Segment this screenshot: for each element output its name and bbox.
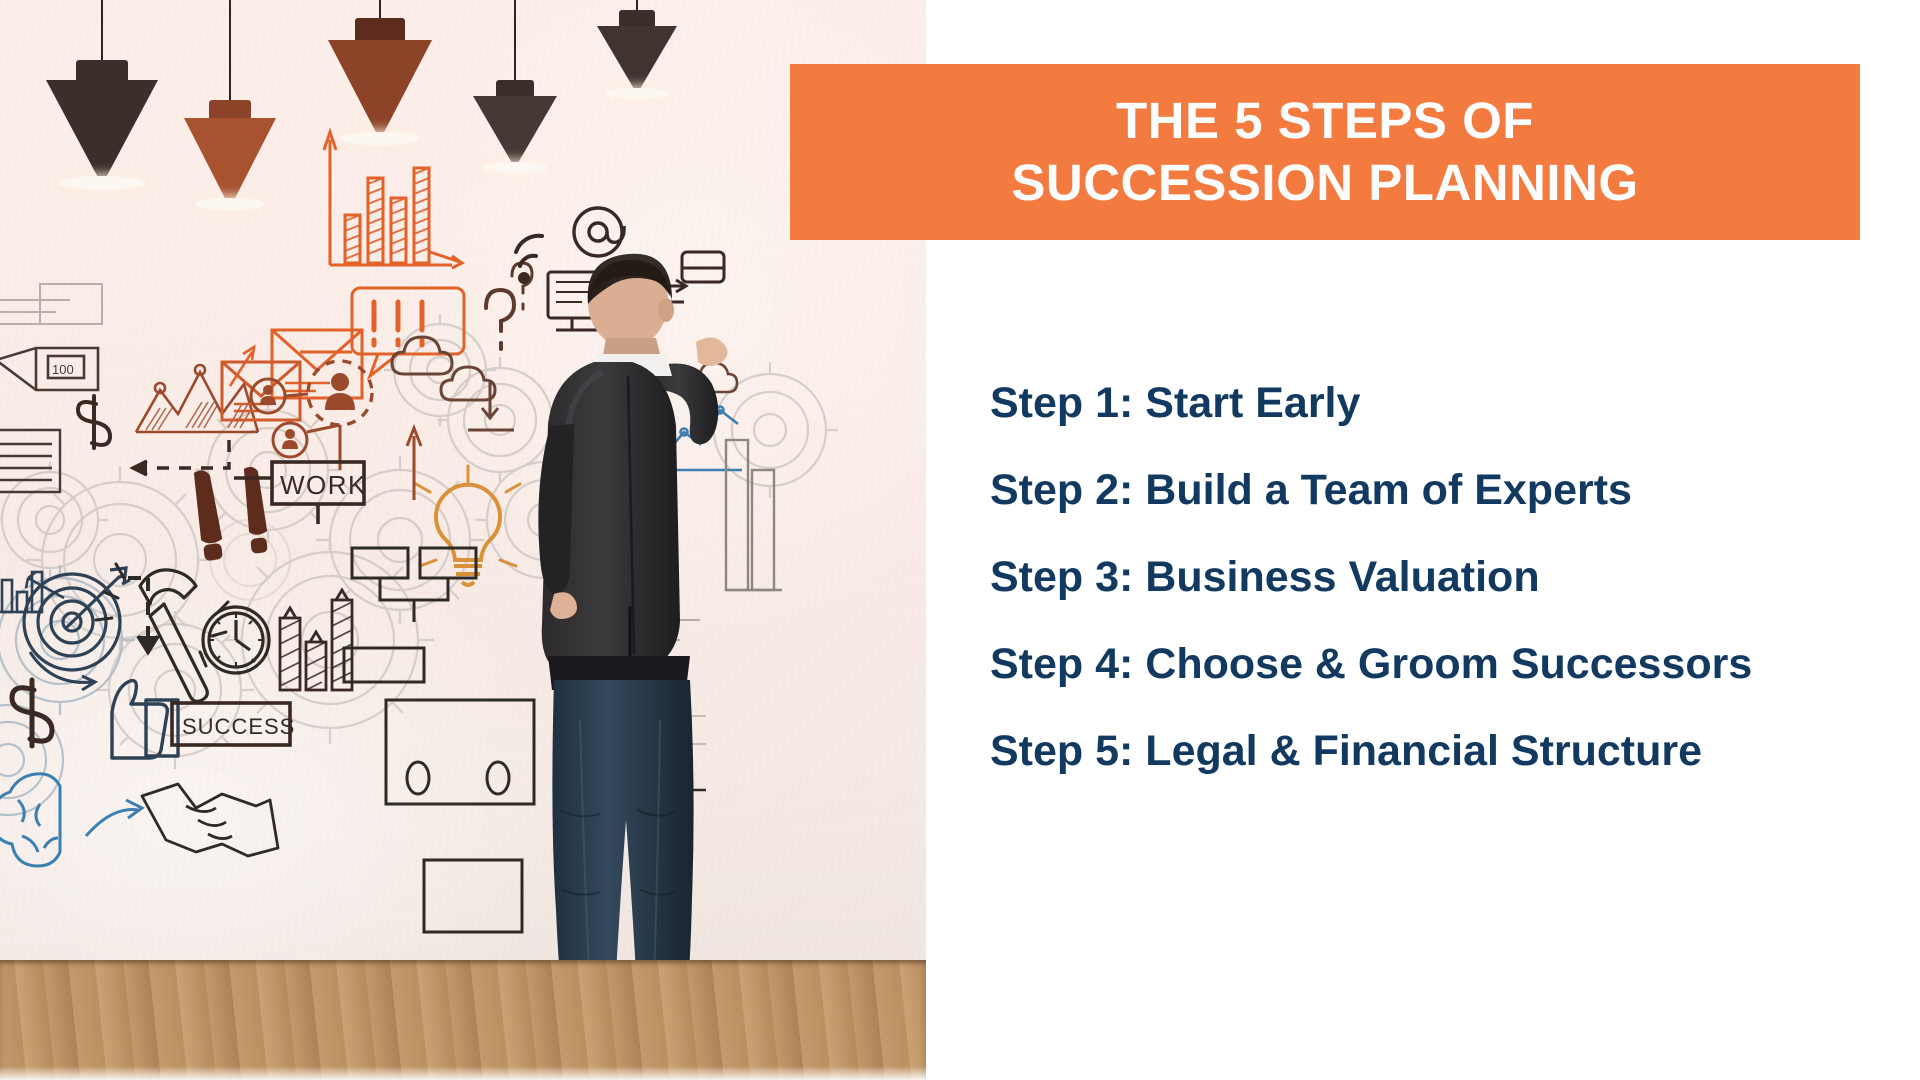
thumbs-up-icon xyxy=(112,681,178,758)
step-item-1: Step 1: Start Early xyxy=(990,382,1920,425)
title-line-2: SUCCESSION PLANNING xyxy=(1011,154,1638,211)
svg-text:100: 100 xyxy=(52,362,74,377)
title-banner: THE 5 STEPS OF SUCCESSION PLANNING xyxy=(790,64,1860,240)
exclamation-doodle xyxy=(196,469,266,559)
wall-doodles: 100 xyxy=(0,0,926,1022)
at-symbol-icon xyxy=(574,208,624,256)
dashed-arrow-left xyxy=(133,440,229,475)
clock-icon xyxy=(203,607,269,673)
cash-box-icon: 100 xyxy=(0,348,98,390)
brain-icon xyxy=(0,774,60,866)
bar-chart-doodle xyxy=(324,132,462,268)
envelope-icon xyxy=(272,330,362,398)
brain-arrow xyxy=(86,800,142,836)
step-item-2: Step 2: Build a Team of Experts xyxy=(990,469,1920,512)
flowchart-doodle xyxy=(344,548,476,682)
step-item-3: Step 3: Business Valuation xyxy=(990,556,1920,599)
page-title: THE 5 STEPS OF SUCCESSION PLANNING xyxy=(1011,90,1638,214)
org-chart-people xyxy=(251,361,372,470)
handshake-icon xyxy=(142,784,278,856)
step-item-4: Step 4: Choose & Groom Successors xyxy=(990,643,1920,686)
success-label-text: SUCCESS xyxy=(182,714,295,739)
steps-list: Step 1: Start Early Step 2: Build a Team… xyxy=(990,382,1920,773)
slide-canvas: 100 xyxy=(0,0,1920,1080)
arrow-up-doodle xyxy=(407,428,421,500)
step-item-5: Step 5: Legal & Financial Structure xyxy=(990,730,1920,773)
businessman-figure xyxy=(510,250,770,1080)
title-line-1: THE 5 STEPS OF xyxy=(1116,92,1534,149)
hero-photo: 100 xyxy=(0,0,926,1080)
dollar-sign-icon-2 xyxy=(12,680,52,746)
bank-note-icon xyxy=(0,430,60,492)
wooden-floor xyxy=(0,960,926,1080)
content-panel: THE 5 STEPS OF SUCCESSION PLANNING Step … xyxy=(926,0,1920,1080)
hatched-bar-chart xyxy=(280,590,352,690)
hammer-icon xyxy=(140,570,207,701)
dollar-sign-icon xyxy=(78,396,110,448)
work-label-text: WORK xyxy=(280,470,367,500)
speech-bubble-exclaim xyxy=(352,288,464,376)
